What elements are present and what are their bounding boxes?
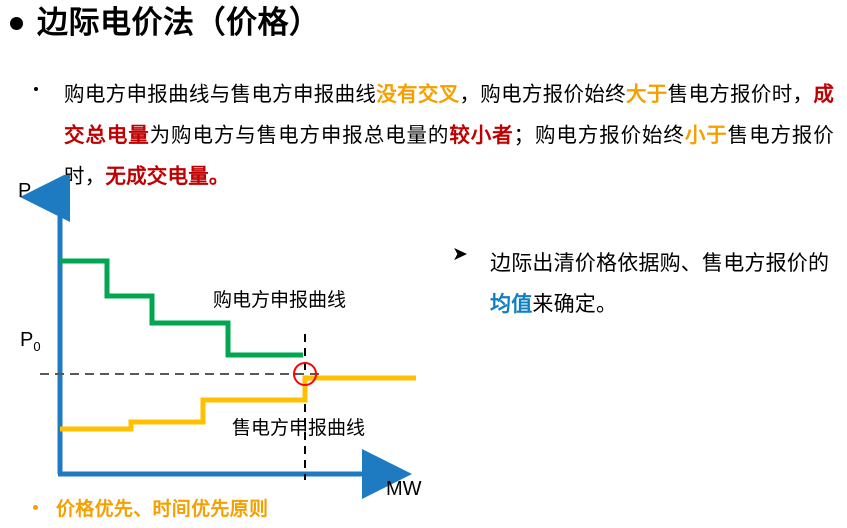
paragraph-bullet-icon xyxy=(34,87,38,91)
sell-curve-label: 售电方申报曲线 xyxy=(232,413,365,440)
note-run-2: 来确定。 xyxy=(532,293,617,316)
page-title: 边际电价法（价格） xyxy=(37,6,321,40)
note-block: ➤ 边际出清价格依据购、售电方报价的均值来确定。 xyxy=(452,243,842,325)
para-run-3-highlight: 大于 xyxy=(626,83,668,106)
footer-bullet-icon xyxy=(33,505,38,510)
slide-canvas: 边际电价法（价格） 购电方申报曲线与售电方申报曲线没有交叉，购电方报价始终大于售… xyxy=(0,0,847,528)
para-run-6: 为购电方与售电方申报总电量的 xyxy=(150,124,450,147)
clearing-price-letter: P xyxy=(20,329,33,351)
supply-demand-step-chart xyxy=(0,175,450,500)
slide-title: 边际电价法（价格） xyxy=(10,6,321,40)
para-run-4: 售电方报价时， xyxy=(668,83,814,106)
para-run-7-highlight: 较小者 xyxy=(449,124,513,147)
footer-bullet-row: 价格优先、时间优先原则 xyxy=(33,494,268,521)
y-axis-label: P xyxy=(18,180,31,203)
arrow-marker-icon: ➤ xyxy=(452,245,468,264)
para-run-1-highlight: 没有交叉 xyxy=(376,83,459,106)
para-run-8: ；购电方报价始终 xyxy=(514,124,685,147)
para-run-9-highlight: 小于 xyxy=(685,124,728,147)
note-run-0: 边际出清价格依据购、售电方报价的 xyxy=(490,252,829,275)
buy-curve-label: 购电方申报曲线 xyxy=(213,285,346,312)
x-axis-label: MW xyxy=(386,478,422,501)
note-text: 边际出清价格依据购、售电方报价的均值来确定。 xyxy=(490,243,842,325)
para-run-2: ，购电方报价始终 xyxy=(459,83,626,106)
clearing-price-label: P0 xyxy=(20,329,41,354)
title-bullet-icon xyxy=(10,17,23,30)
footer-text: 价格优先、时间优先原则 xyxy=(56,494,268,521)
clearing-price-subscript: 0 xyxy=(33,339,40,354)
para-run-0: 购电方申报曲线与售电方申报曲线 xyxy=(64,83,376,106)
note-run-1-highlight: 均值 xyxy=(490,293,532,316)
